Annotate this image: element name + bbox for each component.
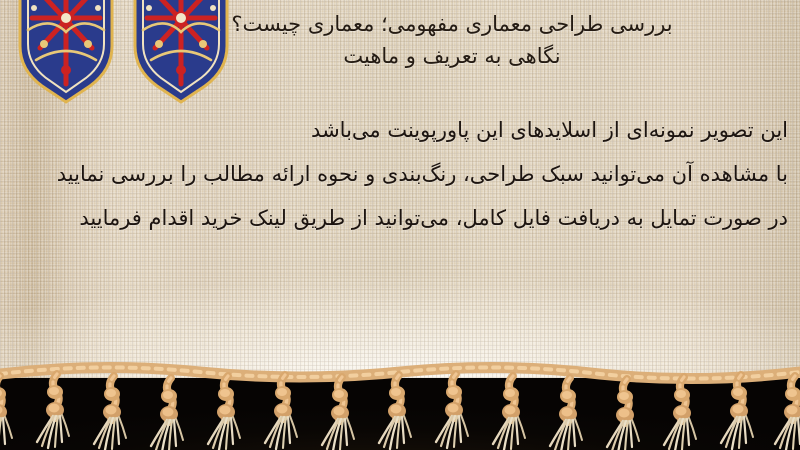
body-line-3: در صورت تمایل به دریافت فایل کامل، می‌تو…	[8, 196, 788, 240]
black-background-band	[0, 378, 800, 450]
body-line-1: این تصویر نمونه‌ای از اسلایدهای این پاور…	[8, 108, 788, 152]
body-line-2: با مشاهده آن می‌توانید سبک طراحی، رنگ‌بن…	[8, 152, 788, 196]
slide-body: این تصویر نمونه‌ای از اسلایدهای این پاور…	[8, 108, 788, 240]
slide-canvas: بررسی طراحی معماری مفهومی؛ معماری چیست؟ …	[0, 0, 800, 450]
slide-title: بررسی طراحی معماری مفهومی؛ معماری چیست؟ …	[122, 8, 782, 72]
title-line-1: بررسی طراحی معماری مفهومی؛ معماری چیست؟	[122, 8, 782, 40]
title-line-2: نگاهی به تعریف و ماهیت	[122, 40, 782, 72]
